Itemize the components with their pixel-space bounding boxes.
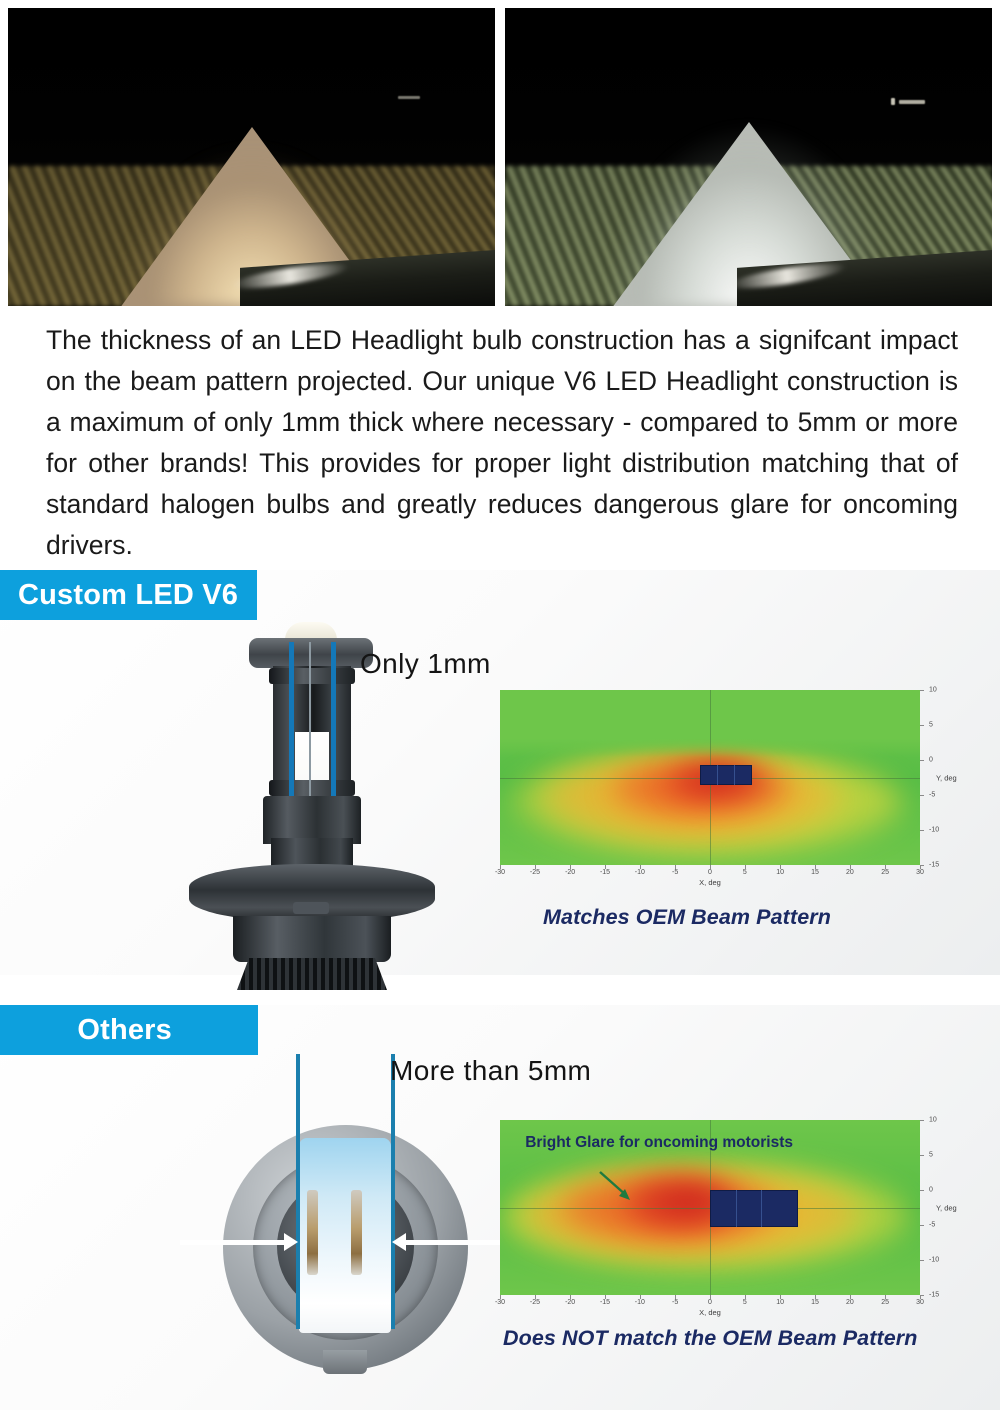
headlight-comparison-photos bbox=[8, 8, 992, 306]
x-axis-title: X, deg bbox=[699, 1308, 721, 1317]
led-bulb-other-cross-section bbox=[195, 1050, 495, 1390]
annotation-bright-glare: Bright Glare for oncoming motorists bbox=[525, 1134, 793, 1152]
photo-led-night-beam bbox=[505, 8, 992, 306]
thickness-arrow-left bbox=[180, 1240, 285, 1245]
bulb-top-cap bbox=[249, 638, 373, 668]
distant-light-fleck bbox=[398, 96, 420, 99]
distant-light-fleck bbox=[899, 100, 925, 104]
glare-annotation-arrow-icon bbox=[597, 1169, 637, 1203]
caption-does-not-match-oem: Does NOT match the OEM Beam Pattern bbox=[503, 1326, 917, 1351]
measure-line-left bbox=[296, 1054, 300, 1329]
distant-light-fleck bbox=[891, 98, 895, 105]
measure-line-right bbox=[391, 1054, 395, 1329]
banner-label-others: Others bbox=[77, 1014, 258, 1047]
sensor-marker-box bbox=[700, 765, 753, 784]
x-axis-ticks: -30 -25 -20 -15 -10 -5 0 5 10 15 20 25 3… bbox=[500, 865, 920, 881]
banner-others: Others bbox=[0, 1005, 258, 1055]
beam-pattern-chart-others: Bright Glare for oncoming motorists -30 … bbox=[500, 1120, 920, 1295]
y-axis-title: Y, deg bbox=[936, 1203, 957, 1212]
description-paragraph: The thickness of an LED Headlight bulb c… bbox=[46, 320, 958, 566]
y-axis-ticks: 10 5 0 -5 -10 -15 Y, deg bbox=[920, 1120, 954, 1295]
heatmap-plot-area bbox=[500, 690, 920, 865]
x-axis-ticks: -30 -25 -20 -15 -10 -5 0 5 10 15 20 25 3… bbox=[500, 1295, 920, 1311]
heatmap-plot-area: Bright Glare for oncoming motorists bbox=[500, 1120, 920, 1295]
thickness-label-1mm: Only 1mm bbox=[360, 648, 491, 680]
banner-custom-led-v6: Custom LED V6 bbox=[0, 570, 257, 620]
banner-label-custom-led-v6: Custom LED V6 bbox=[0, 579, 238, 612]
electrode-left bbox=[307, 1190, 318, 1275]
sensor-marker-box bbox=[710, 1190, 798, 1227]
thickness-arrow-right bbox=[405, 1240, 510, 1245]
thickness-label-5mm: More than 5mm bbox=[390, 1055, 591, 1087]
caption-matches-oem: Matches OEM Beam Pattern bbox=[543, 905, 831, 930]
beam-pattern-chart-v6: -30 -25 -20 -15 -10 -5 0 5 10 15 20 25 3… bbox=[500, 690, 920, 865]
heatsink-fins bbox=[237, 958, 387, 990]
bulb-clip-upper bbox=[269, 668, 355, 684]
y-axis-title: Y, deg bbox=[936, 773, 957, 782]
section-custom-led-v6: Custom LED V6 bbox=[0, 570, 1000, 975]
photo-halogen-night-beam bbox=[8, 8, 495, 306]
electrode-right bbox=[351, 1190, 362, 1275]
bulb-barrel bbox=[233, 916, 391, 962]
y-axis-ticks: 10 5 0 -5 -10 -15 Y, deg bbox=[920, 690, 954, 865]
bulb-body bbox=[263, 796, 361, 844]
bulb-alignment-foot bbox=[323, 1350, 367, 1374]
x-axis-title: X, deg bbox=[699, 878, 721, 887]
section-others: Others Bright Glare for oncoming motoris… bbox=[0, 1005, 1000, 1410]
bulb-clip-lower bbox=[269, 780, 355, 796]
bulb-alignment-tab bbox=[293, 902, 329, 914]
